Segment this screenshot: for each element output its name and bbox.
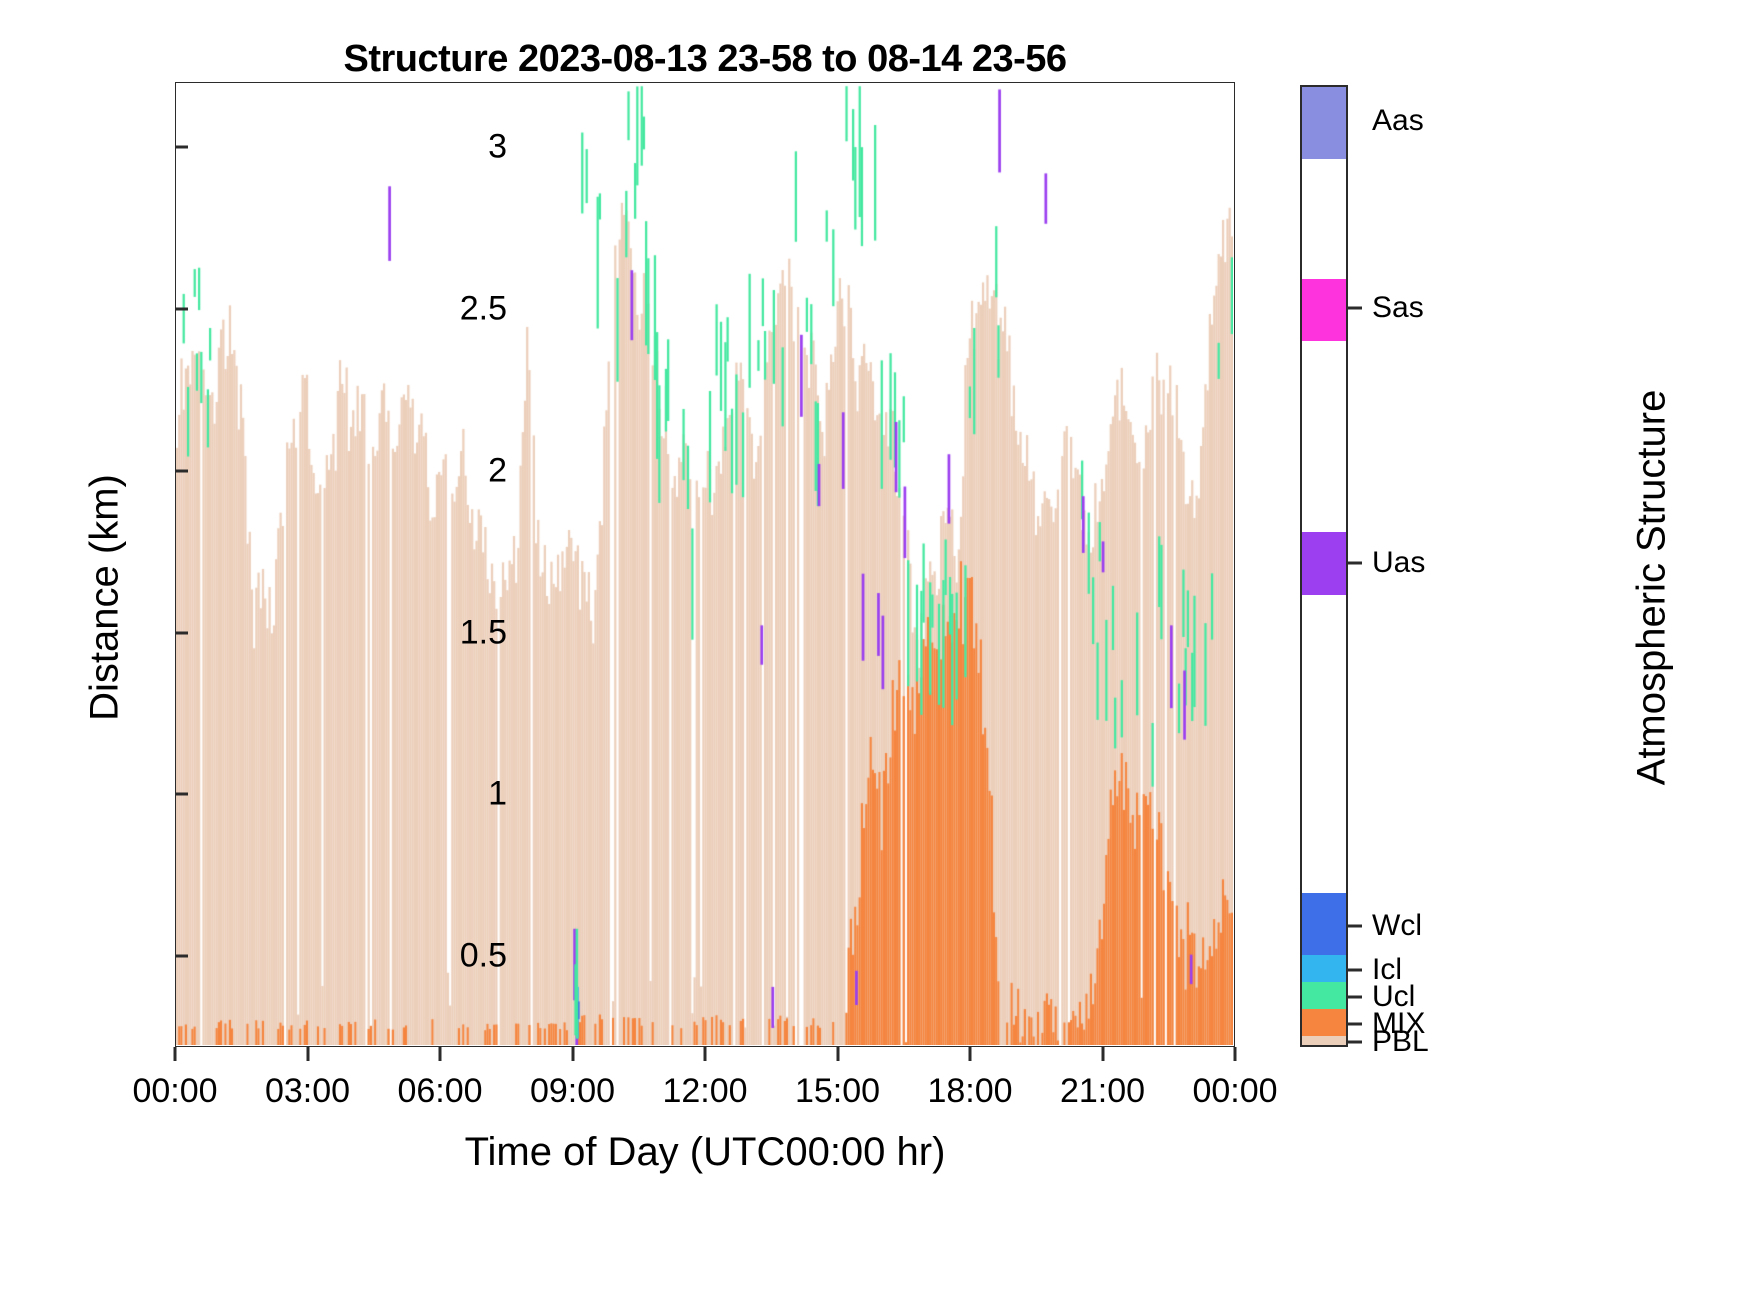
colorbar-segment-sas: [1302, 279, 1346, 341]
y-tick-label: 2: [387, 451, 507, 490]
y-tick-label: 1: [387, 775, 507, 814]
colorbar-tick-pbl: [1348, 1041, 1362, 1044]
x-tick-mark: [174, 1047, 177, 1061]
colorbar-segment-icl: [1302, 955, 1346, 982]
colorbar-segment-pbl: [1302, 1036, 1346, 1045]
y-tick-mark: [175, 793, 188, 796]
colorbar-segment-mix: [1302, 1009, 1346, 1036]
colorbar-tick-wcl: [1348, 924, 1362, 927]
colorbar-segment-aas: [1302, 87, 1346, 159]
chart-root: Structure 2023-08-13 23-58 to 08-14 23-5…: [0, 0, 1750, 1313]
structure-heatmap-canvas: [176, 83, 1233, 1045]
y-axis-label: Distance (km): [83, 368, 128, 828]
colorbar-label-uas: Uas: [1372, 546, 1425, 580]
x-tick-mark: [439, 1047, 442, 1061]
y-tick-label: 2.5: [387, 289, 507, 328]
x-tick-label: 00:00: [1145, 1072, 1325, 1111]
y-tick-mark: [175, 469, 188, 472]
plot-area: [175, 82, 1235, 1047]
x-tick-mark: [571, 1047, 574, 1061]
colorbar-label-aas: Aas: [1372, 104, 1424, 138]
colorbar-tick-mix: [1348, 1022, 1362, 1025]
colorbar-label: Atmospheric Structure: [1630, 328, 1675, 848]
plot-canvas-wrapper: [176, 83, 1234, 1046]
colorbar-tick-sas: [1348, 307, 1362, 310]
y-tick-mark: [175, 307, 188, 310]
colorbar-label-wcl: Wcl: [1372, 909, 1422, 943]
chart-title: Structure 2023-08-13 23-58 to 08-14 23-5…: [175, 38, 1235, 81]
y-tick-label: 1.5: [387, 613, 507, 652]
x-tick-mark: [704, 1047, 707, 1061]
y-tick-mark: [175, 955, 188, 958]
colorbar-tick-icl: [1348, 969, 1362, 972]
y-tick-mark: [175, 631, 188, 634]
x-tick-mark: [1101, 1047, 1104, 1061]
colorbar-tick-ucl: [1348, 995, 1362, 998]
colorbar-tick-uas: [1348, 562, 1362, 565]
x-tick-mark: [969, 1047, 972, 1061]
colorbar-segment-ucl: [1302, 982, 1346, 1009]
x-tick-mark: [306, 1047, 309, 1061]
colorbar: [1300, 85, 1348, 1047]
x-tick-mark: [836, 1047, 839, 1061]
x-tick-mark: [1234, 1047, 1237, 1061]
colorbar-segment-uas: [1302, 532, 1346, 594]
y-tick-mark: [175, 145, 188, 148]
colorbar-label-pbl: PBL: [1372, 1025, 1429, 1059]
y-tick-label: 3: [387, 127, 507, 166]
x-axis-label: Time of Day (UTC00:00 hr): [175, 1130, 1235, 1175]
colorbar-segment-wcl: [1302, 893, 1346, 956]
colorbar-label-sas: Sas: [1372, 291, 1424, 325]
y-tick-label: 0.5: [387, 937, 507, 976]
